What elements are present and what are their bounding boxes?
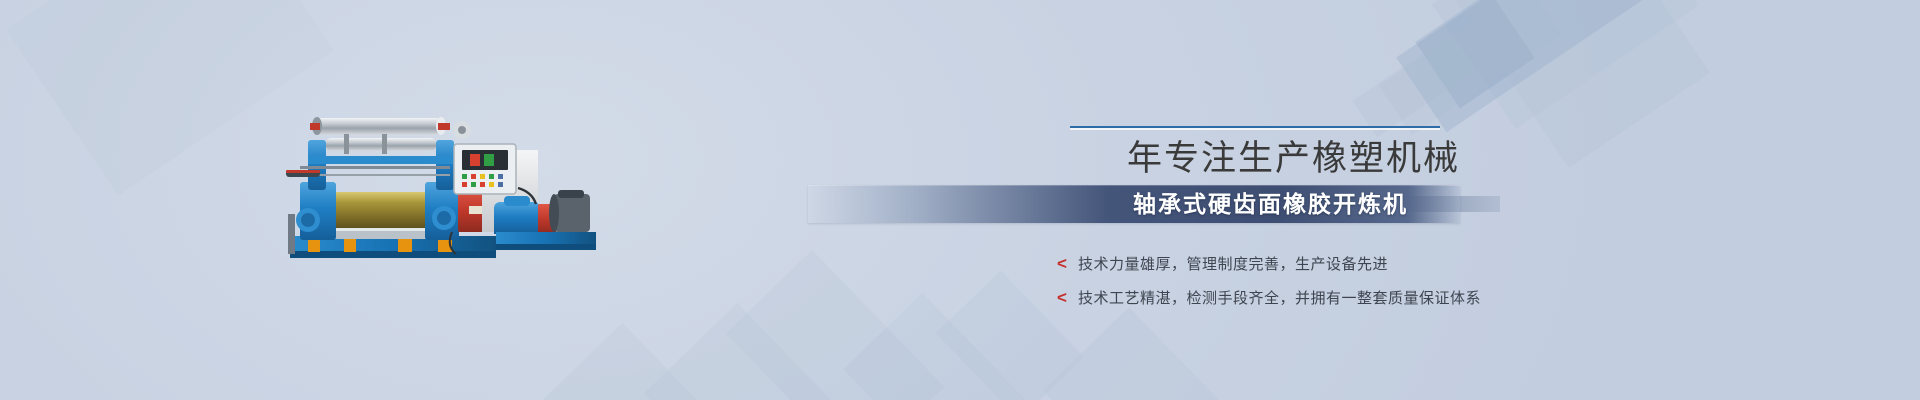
promo-banner: 年专注生产橡塑机械 轴承式硬齿面橡胶开炼机 < 技术力量雄厚，管理制度完善，生产… xyxy=(0,0,1920,400)
feature-text: 技术力量雄厚，管理制度完善，生产设备先进 xyxy=(1078,253,1388,274)
decorative-shape xyxy=(1415,0,1534,108)
list-item: < 技术工艺精湛，检测手段齐全，并拥有一整套质量保证体系 xyxy=(1055,280,1655,314)
feature-text: 技术工艺精湛，检测手段齐全，并拥有一整套质量保证体系 xyxy=(1078,287,1481,308)
list-item: < 技术力量雄厚，管理制度完善，生产设备先进 xyxy=(1055,246,1655,280)
decorative-shape xyxy=(543,323,726,400)
decorative-shape xyxy=(644,303,876,400)
product-image xyxy=(286,96,596,262)
feature-list: < 技术力量雄厚，管理制度完善，生产设备先进 < 技术工艺精湛，检测手段齐全，并… xyxy=(1055,246,1655,314)
decorative-shape xyxy=(6,0,333,196)
chevron-left-icon: < xyxy=(1055,289,1069,306)
chevron-left-icon: < xyxy=(1055,255,1069,272)
banner-content: 年专注生产橡塑机械 轴承式硬齿面橡胶开炼机 < 技术力量雄厚，管理制度完善，生产… xyxy=(860,96,1640,326)
subtitle-banner: 轴承式硬齿面橡胶开炼机 xyxy=(808,185,1460,223)
title-divider xyxy=(1070,126,1440,128)
page-title: 年专注生产橡塑机械 xyxy=(860,136,1460,182)
product-name: 轴承式硬齿面橡胶开炼机 xyxy=(1133,185,1408,223)
